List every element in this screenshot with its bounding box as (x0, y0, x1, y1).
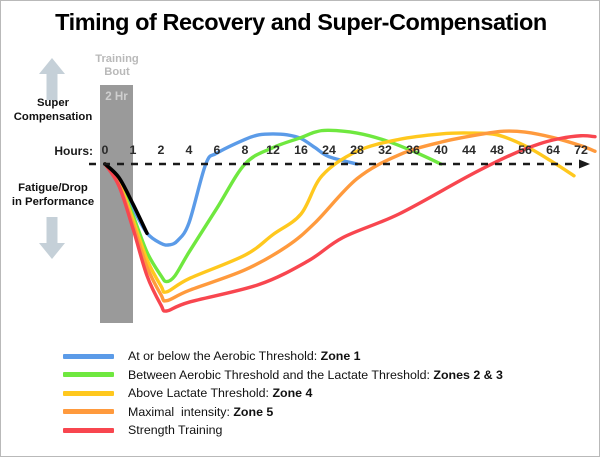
legend-label: Between Aerobic Threshold and the Lactat… (128, 368, 503, 382)
legend: At or below the Aerobic Threshold: Zone … (63, 347, 593, 440)
x-axis-tick-label: 64 (542, 143, 564, 157)
legend-label: Above Lactate Threshold: Zone 4 (128, 386, 312, 400)
x-axis-tick-label: 6 (206, 143, 228, 157)
chart-figure: Timing of Recovery and Super-Compensatio… (0, 0, 600, 457)
legend-item[interactable]: Strength Training (63, 421, 593, 440)
x-axis-tick-label: 32 (374, 143, 396, 157)
legend-color-swatch (63, 428, 114, 433)
legend-color-swatch (63, 372, 114, 377)
x-axis-tick-label: 24 (318, 143, 340, 157)
legend-item[interactable]: Between Aerobic Threshold and the Lactat… (63, 366, 593, 385)
legend-label: Maximal intensity: Zone 5 (128, 405, 273, 419)
legend-color-swatch (63, 409, 114, 414)
legend-item[interactable]: Above Lactate Threshold: Zone 4 (63, 384, 593, 403)
x-axis-tick-label: 48 (486, 143, 508, 157)
legend-item[interactable]: Maximal intensity: Zone 5 (63, 403, 593, 422)
x-axis-tick-label: 28 (346, 143, 368, 157)
x-axis-tick-label: 40 (430, 143, 452, 157)
legend-color-swatch (63, 354, 114, 359)
x-axis-tick-label: 0 (94, 143, 116, 157)
plot-area: Training Bout 2 Hr Super Compensation Fa… (1, 1, 600, 341)
series-lines (1, 1, 600, 341)
legend-label: Strength Training (128, 423, 222, 437)
legend-label: At or below the Aerobic Threshold: Zone … (128, 349, 361, 363)
axis-arrow-icon (579, 160, 590, 169)
x-axis-tick-label: 1 (122, 143, 144, 157)
x-axis-tick-label: 56 (514, 143, 536, 157)
x-axis-tick-label: 4 (178, 143, 200, 157)
x-axis-tick-label: 44 (458, 143, 480, 157)
legend-item[interactable]: At or below the Aerobic Threshold: Zone … (63, 347, 593, 366)
legend-color-swatch (63, 391, 114, 396)
x-axis-tick-label: 72 (570, 143, 592, 157)
x-axis-tick-label: 12 (262, 143, 284, 157)
x-axis-tick-label: 36 (402, 143, 424, 157)
x-axis-tick-label: 8 (234, 143, 256, 157)
x-axis-tick-label: 16 (290, 143, 312, 157)
x-axis-tick-label: 2 (150, 143, 172, 157)
